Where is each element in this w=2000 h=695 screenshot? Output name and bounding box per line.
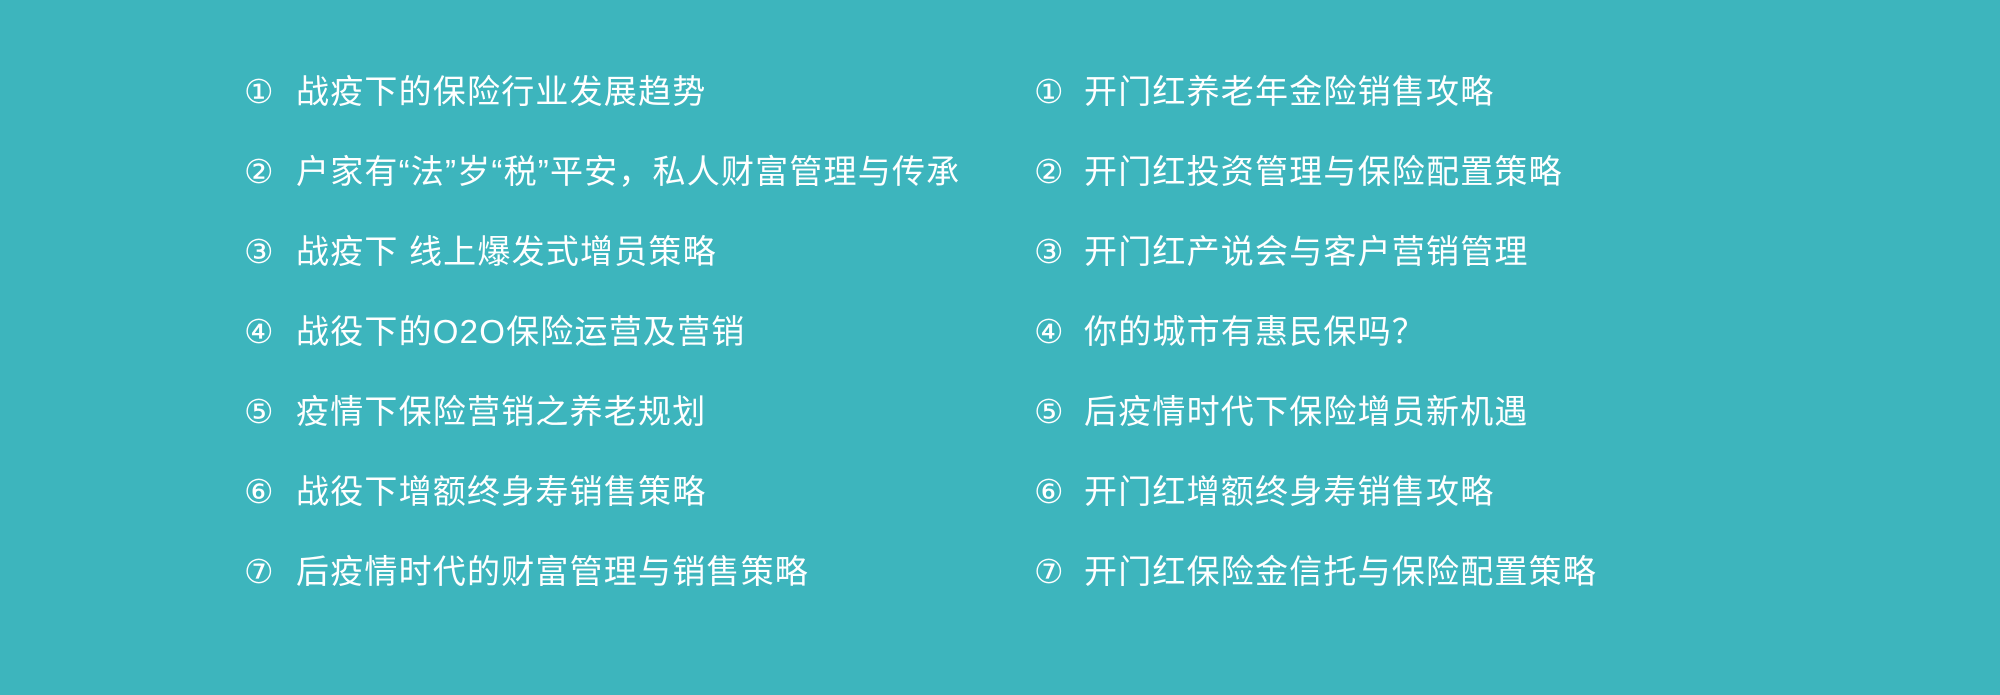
list-item-index: ⑦ [244, 532, 296, 612]
list-item-index: ② [244, 132, 296, 212]
list-item-title: 后疫情时代下保险增员新机遇 [1084, 372, 1529, 452]
course-list-banner: ① 战疫下的保险行业发展趋势 ② 户家有“法”岁“税”平安，私人财富管理与传承 … [0, 0, 2000, 695]
list-item-title: 开门红增额终身寿销售攻略 [1084, 452, 1494, 532]
list-item-index: ① [244, 52, 296, 132]
list-item-title: 战役下的O2O保险运营及营销 [296, 292, 746, 372]
list-item[interactable]: ⑦ 后疫情时代的财富管理与销售策略 [244, 532, 1034, 612]
list-item[interactable]: ⑤ 后疫情时代下保险增员新机遇 [1034, 372, 1834, 452]
list-item-title: 战疫下的保险行业发展趋势 [296, 52, 706, 132]
list-item-index: ⑦ [1034, 532, 1084, 612]
list-item[interactable]: ② 户家有“法”岁“税”平安，私人财富管理与传承 [244, 132, 1034, 212]
list-item-title: 户家有“法”岁“税”平安，私人财富管理与传承 [296, 132, 960, 212]
list-item-title: 战役下增额终身寿销售策略 [296, 452, 706, 532]
list-item[interactable]: ② 开门红投资管理与保险配置策略 [1034, 132, 1834, 212]
list-item-index: ③ [244, 212, 296, 292]
list-item-title: 后疫情时代的财富管理与销售策略 [296, 532, 809, 612]
list-item[interactable]: ① 战疫下的保险行业发展趋势 [244, 52, 1034, 132]
list-item[interactable]: ⑤ 疫情下保险营销之养老规划 [244, 372, 1034, 452]
list-item-index: ⑤ [1034, 372, 1084, 452]
list-item-title: 开门红投资管理与保险配置策略 [1084, 132, 1563, 212]
list-item-title: 你的城市有惠民保吗？ [1084, 292, 1426, 372]
list-item-index: ⑥ [244, 452, 296, 532]
list-item[interactable]: ① 开门红养老年金险销售攻略 [1034, 52, 1834, 132]
list-item-title: 开门红产说会与客户营销管理 [1084, 212, 1529, 292]
list-item-title: 疫情下保险营销之养老规划 [296, 372, 706, 452]
list-item-index: ② [1034, 132, 1084, 212]
list-item[interactable]: ⑥ 战役下增额终身寿销售策略 [244, 452, 1034, 532]
list-item-title: 开门红养老年金险销售攻略 [1084, 52, 1494, 132]
list-item-index: ① [1034, 52, 1084, 132]
list-item[interactable]: ⑥ 开门红增额终身寿销售攻略 [1034, 452, 1834, 532]
list-item-index: ⑤ [244, 372, 296, 452]
list-item-title: 战疫下 线上爆发式增员策略 [296, 212, 717, 292]
list-item[interactable]: ⑦ 开门红保险金信托与保险配置策略 [1034, 532, 1834, 612]
list-item[interactable]: ③ 开门红产说会与客户营销管理 [1034, 212, 1834, 292]
list-item-index: ⑥ [1034, 452, 1084, 532]
list-item[interactable]: ④ 战役下的O2O保险运营及营销 [244, 292, 1034, 372]
list-item[interactable]: ④ 你的城市有惠民保吗？ [1034, 292, 1834, 372]
course-column-left: ① 战疫下的保险行业发展趋势 ② 户家有“法”岁“税”平安，私人财富管理与传承 … [244, 52, 1034, 612]
list-item-index: ③ [1034, 212, 1084, 292]
course-column-right: ① 开门红养老年金险销售攻略 ② 开门红投资管理与保险配置策略 ③ 开门红产说会… [1034, 52, 1834, 612]
list-item-index: ④ [1034, 292, 1084, 372]
list-item[interactable]: ③ 战疫下 线上爆发式增员策略 [244, 212, 1034, 292]
list-item-title: 开门红保险金信托与保险配置策略 [1084, 532, 1597, 612]
list-item-index: ④ [244, 292, 296, 372]
